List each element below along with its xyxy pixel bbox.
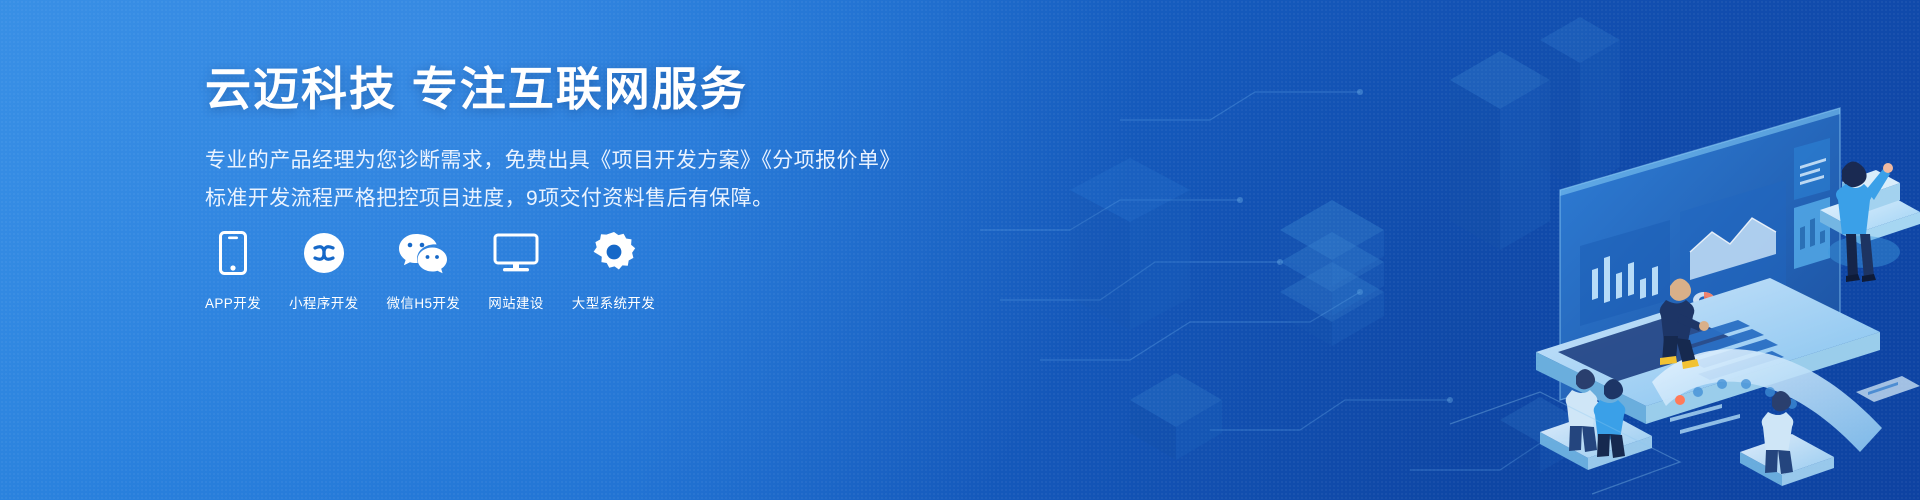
service-label: APP开发 [205, 292, 261, 312]
monitor-icon [489, 228, 543, 278]
gear-icon [587, 228, 641, 278]
service-item-app[interactable]: APP开发 [205, 228, 261, 312]
banner-subtitle: 专业的产品经理为您诊断需求，免费出具《项目开发方案》《分项报价单》 标准开发流程… [205, 142, 925, 217]
service-label: 微信H5开发 [387, 292, 461, 312]
banner-copy: 云迈科技 专注互联网服务 专业的产品经理为您诊断需求，免费出具《项目开发方案》《… [205, 62, 925, 217]
service-item-mini-program[interactable]: 小程序开发 [289, 228, 359, 312]
service-item-large-system[interactable]: 大型系统开发 [572, 228, 655, 312]
wechat-icon [396, 228, 450, 278]
service-label: 小程序开发 [289, 292, 359, 312]
illustration-isometric-data-dashboard [980, 0, 1920, 500]
page-title: 云迈科技 专注互联网服务 [205, 62, 925, 116]
service-label: 大型系统开发 [572, 292, 655, 312]
service-label: 网站建设 [488, 292, 544, 312]
mini-program-icon [297, 228, 351, 278]
mobile-phone-icon [206, 228, 260, 278]
service-item-website[interactable]: 网站建设 [488, 228, 544, 312]
service-list: APP开发 小程序开发 [205, 228, 655, 312]
subtitle-line-2: 标准开发流程严格把控项目进度，9项交付资料售后有保障。 [205, 180, 925, 217]
service-item-wechat-h5[interactable]: 微信H5开发 [387, 228, 461, 312]
promo-banner: 云迈科技 专注互联网服务 专业的产品经理为您诊断需求，免费出具《项目开发方案》《… [0, 0, 1920, 500]
subtitle-line-1: 专业的产品经理为您诊断需求，免费出具《项目开发方案》《分项报价单》 [205, 142, 925, 179]
